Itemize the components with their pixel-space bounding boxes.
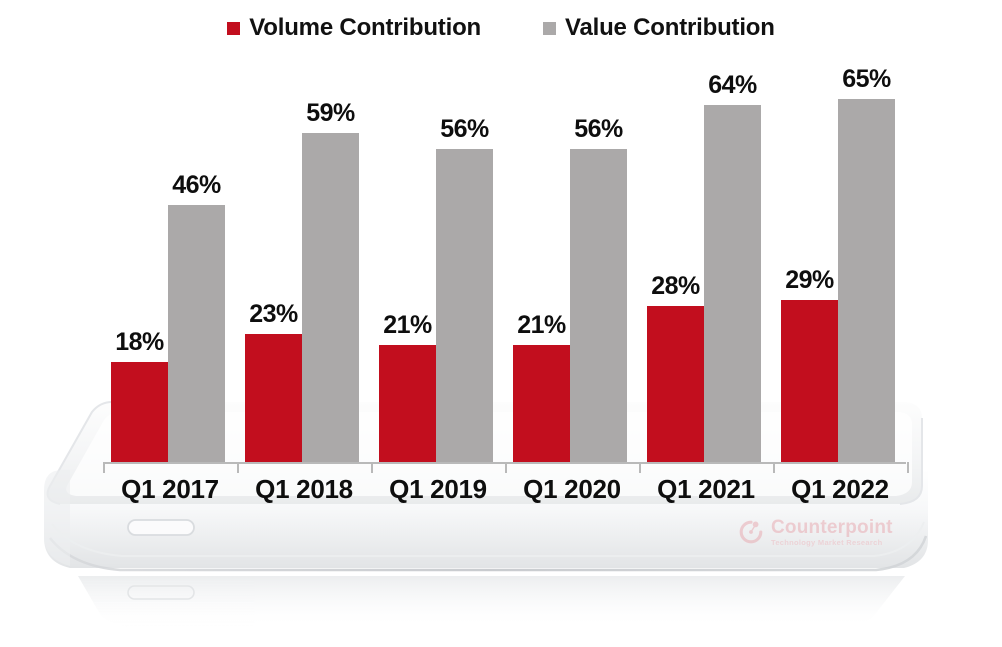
x-axis-category-labels: Q1 2017Q1 2018Q1 2019Q1 2020Q1 2021Q1 20… (103, 474, 907, 514)
x-axis-tick (639, 462, 641, 473)
bar-volume[interactable]: 21% (513, 345, 570, 462)
square-marker-icon (227, 22, 240, 35)
x-axis-category-label: Q1 2018 (237, 474, 371, 505)
bar-group: 28%64% (639, 60, 773, 462)
bar-value-label: 23% (249, 300, 298, 329)
x-axis-category-label: Q1 2021 (639, 474, 773, 505)
watermark-subtitle: Technology Market Research (771, 539, 893, 547)
bar-value-label: 28% (651, 272, 700, 301)
x-axis-tick (505, 462, 507, 473)
bar-volume[interactable]: 18% (111, 362, 168, 463)
bar-value-label: 21% (517, 311, 566, 340)
x-axis-tick (237, 462, 239, 473)
bar-volume[interactable]: 29% (781, 300, 838, 462)
bar-value[interactable]: 64% (704, 105, 761, 462)
plot-area: 18%46%23%59%21%56%21%56%28%64%29%65% (103, 60, 905, 462)
legend-item-volume: Volume Contribution (227, 14, 481, 42)
x-axis-tick (907, 462, 909, 473)
bar-group: 18%46% (103, 60, 237, 462)
bar-group: 23%59% (237, 60, 371, 462)
bar-value-label: 56% (574, 115, 623, 144)
bar-value-label: 21% (383, 311, 432, 340)
square-marker-icon (543, 22, 556, 35)
bar-value[interactable]: 46% (168, 205, 225, 462)
bar-value[interactable]: 56% (436, 149, 493, 462)
chart-screenshot: Volume Contribution Value Contribution 1… (0, 0, 1002, 647)
legend-item-value: Value Contribution (543, 14, 775, 42)
x-axis-category-label: Q1 2019 (371, 474, 505, 505)
bar-value-label: 56% (440, 115, 489, 144)
watermark-name: Counterpoint (771, 518, 893, 537)
bar-value-label: 59% (306, 99, 355, 128)
x-axis-category-label: Q1 2020 (505, 474, 639, 505)
x-axis-tick (371, 462, 373, 473)
bar-value[interactable]: 56% (570, 149, 627, 462)
x-axis-tick (773, 462, 775, 473)
bar-value-label: 18% (115, 328, 164, 357)
legend-label-volume: Volume Contribution (249, 14, 481, 42)
bar-volume[interactable]: 28% (647, 306, 704, 462)
bar-value-label: 64% (708, 71, 757, 100)
bar-group: 21%56% (371, 60, 505, 462)
bar-value[interactable]: 65% (838, 99, 895, 462)
legend-label-value: Value Contribution (565, 14, 775, 42)
bar-value-label: 65% (842, 65, 891, 94)
counterpoint-logo-icon (738, 519, 764, 545)
x-axis-tick (103, 462, 105, 473)
chart-legend: Volume Contribution Value Contribution (0, 14, 1002, 42)
x-axis-category-label: Q1 2022 (773, 474, 907, 505)
bar-value-label: 29% (785, 266, 834, 295)
bar-group: 29%65% (773, 60, 907, 462)
bar-group: 21%56% (505, 60, 639, 462)
x-axis-category-label: Q1 2017 (103, 474, 237, 505)
bar-volume[interactable]: 23% (245, 334, 302, 462)
bar-value-label: 46% (172, 171, 221, 200)
bar-value[interactable]: 59% (302, 133, 359, 462)
counterpoint-watermark: Counterpoint Technology Market Research (738, 518, 893, 547)
bar-volume[interactable]: 21% (379, 345, 436, 462)
